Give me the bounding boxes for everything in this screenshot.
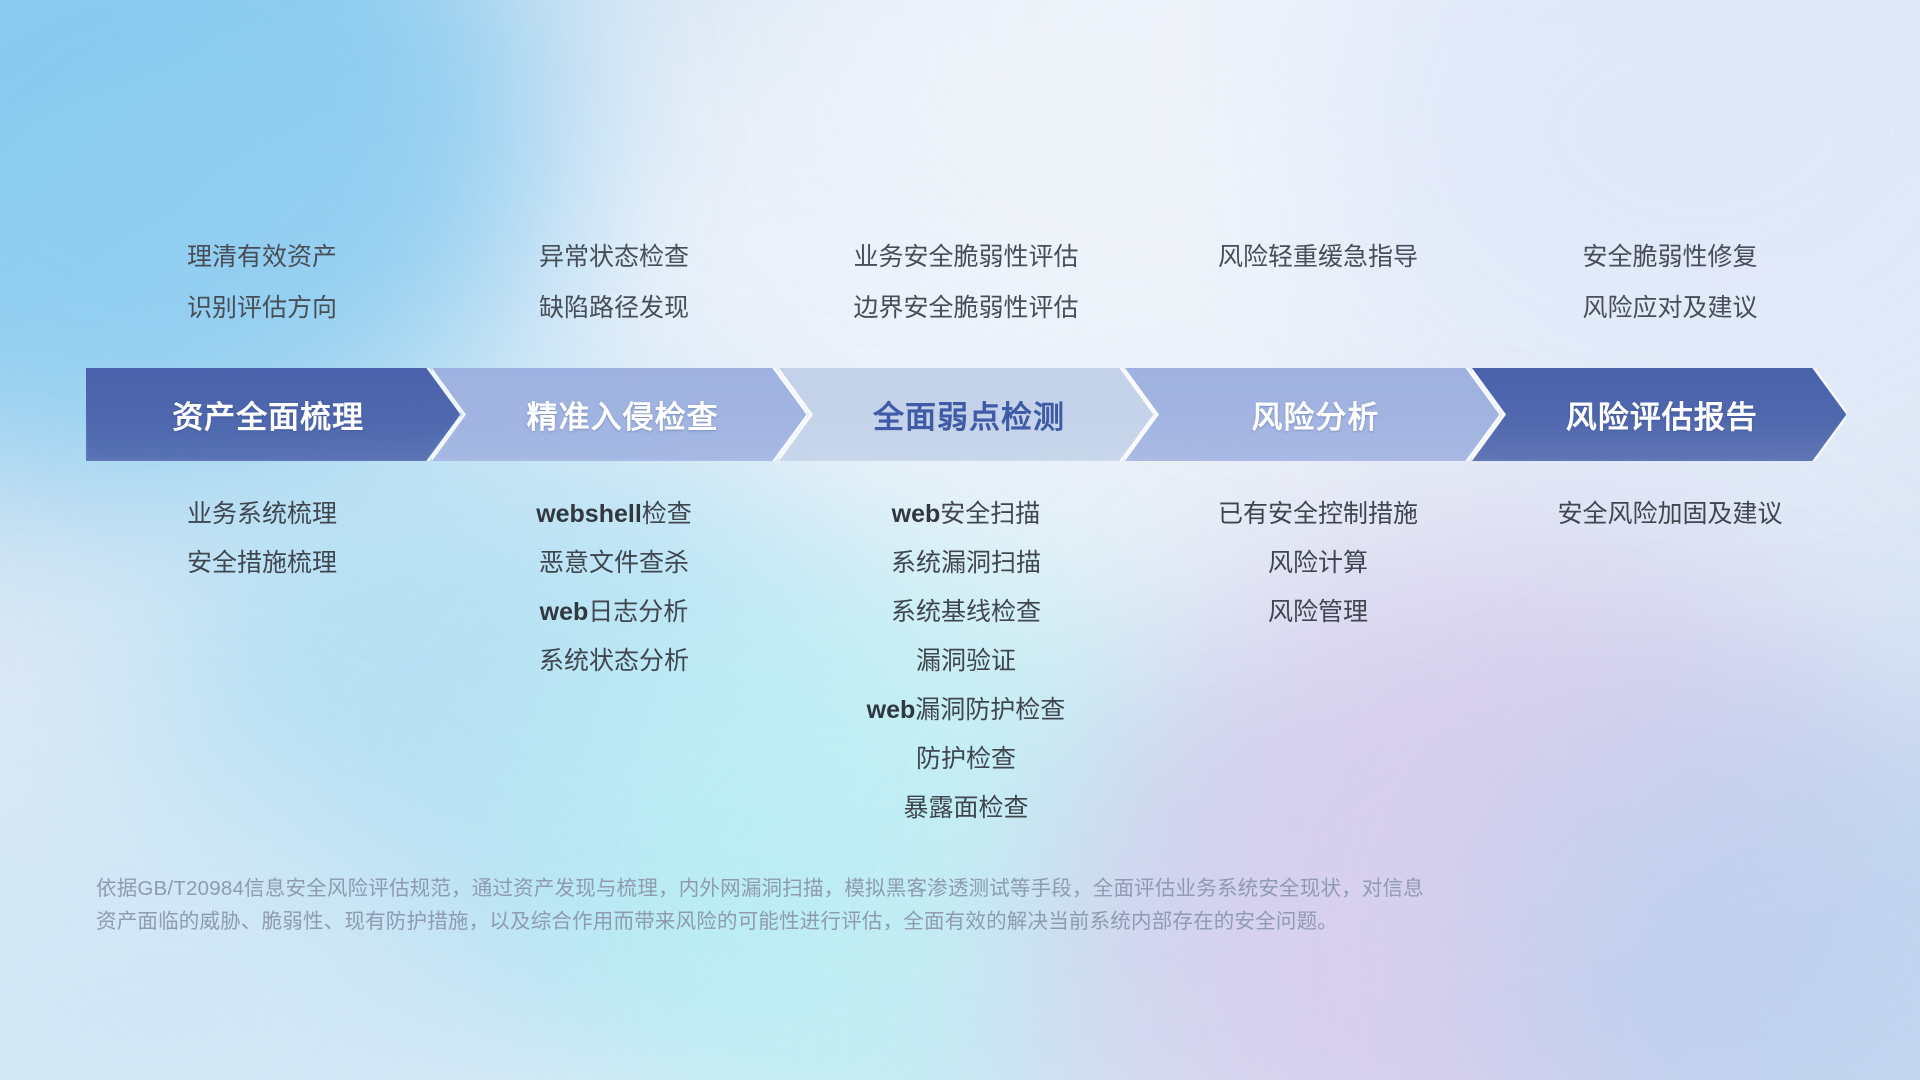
- top-caption-cell-5: 安全脆弱性修复风险应对及建议: [1494, 232, 1846, 334]
- process-diagram: 理清有效资产识别评估方向异常状态检查缺陷路径发现业务安全脆弱性评估边界安全脆弱性…: [0, 0, 1920, 1080]
- detail-list-item: webshell检查: [438, 490, 790, 539]
- detail-list-item: web日志分析: [438, 588, 790, 637]
- detail-list-item: 风险计算: [1142, 539, 1494, 588]
- top-caption-item: 安全脆弱性修复: [1494, 232, 1846, 283]
- detail-list-5: 安全风险加固及建议: [1494, 490, 1846, 539]
- top-caption-item: 异常状态检查: [438, 232, 790, 283]
- top-caption-cell-4: 风险轻重缓急指导: [1142, 232, 1494, 334]
- top-caption-row: 理清有效资产识别评估方向异常状态检查缺陷路径发现业务安全脆弱性评估边界安全脆弱性…: [86, 232, 1846, 334]
- detail-list-item: 安全风险加固及建议: [1494, 490, 1846, 539]
- top-caption-cell-3: 业务安全脆弱性评估边界安全脆弱性评估: [790, 232, 1142, 334]
- detail-list-item: 系统状态分析: [438, 637, 790, 686]
- process-step-label: 风险评估报告: [1566, 392, 1758, 437]
- detail-list-item: 业务系统梳理: [86, 490, 438, 539]
- detail-list-item: 暴露面检查: [790, 784, 1142, 833]
- top-caption-item: 风险轻重缓急指导: [1142, 232, 1494, 283]
- footer-line-1: 依据GB/T20984信息安全风险评估规范，通过资产发现与梳理，内外网漏洞扫描，…: [96, 872, 1626, 905]
- detail-list-item: 恶意文件查杀: [438, 539, 790, 588]
- process-step-5[interactable]: 风险评估报告: [1472, 368, 1846, 461]
- process-step-label: 全面弱点检测: [873, 392, 1065, 437]
- top-caption-item: 边界安全脆弱性评估: [790, 283, 1142, 334]
- top-caption-item: 业务安全脆弱性评估: [790, 232, 1142, 283]
- detail-list-item: 漏洞验证: [790, 637, 1142, 686]
- detail-list-item: web漏洞防护检查: [790, 686, 1142, 735]
- detail-list-item: 系统漏洞扫描: [790, 539, 1142, 588]
- process-step-label: 资产全面梳理: [172, 392, 364, 437]
- top-caption-item: 理清有效资产: [86, 232, 438, 283]
- top-caption-item: 缺陷路径发现: [438, 283, 790, 334]
- process-chevron-banner: 资产全面梳理精准入侵检查全面弱点检测风险分析风险评估报告: [86, 368, 1846, 461]
- detail-list-item: 安全措施梳理: [86, 539, 438, 588]
- top-caption-item: 识别评估方向: [86, 283, 438, 334]
- top-caption-cell-1: 理清有效资产识别评估方向: [86, 232, 438, 334]
- top-caption-cell-2: 异常状态检查缺陷路径发现: [438, 232, 790, 334]
- process-step-3[interactable]: 全面弱点检测: [779, 368, 1153, 461]
- detail-list-item: 风险管理: [1142, 588, 1494, 637]
- detail-list-2: webshell检查恶意文件查杀web日志分析系统状态分析: [438, 490, 790, 686]
- process-step-1[interactable]: 资产全面梳理: [86, 368, 460, 461]
- detail-list-item: 系统基线检查: [790, 588, 1142, 637]
- footer-description: 依据GB/T20984信息安全风险评估规范，通过资产发现与梳理，内外网漏洞扫描，…: [96, 872, 1626, 938]
- top-caption-item: 风险应对及建议: [1494, 283, 1846, 334]
- process-step-4[interactable]: 风险分析: [1125, 368, 1499, 461]
- detail-list-item: 已有安全控制措施: [1142, 490, 1494, 539]
- process-step-label: 风险分析: [1251, 392, 1379, 437]
- detail-list-item: web安全扫描: [790, 490, 1142, 539]
- bottom-detail-row: 业务系统梳理安全措施梳理webshell检查恶意文件查杀web日志分析系统状态分…: [86, 490, 1846, 833]
- footer-line-2: 资产面临的威胁、脆弱性、现有防护措施，以及综合作用而带来风险的可能性进行评估，全…: [96, 905, 1626, 938]
- detail-list-3: web安全扫描系统漏洞扫描系统基线检查漏洞验证web漏洞防护检查防护检查暴露面检…: [790, 490, 1142, 833]
- detail-list-item: 防护检查: [790, 735, 1142, 784]
- process-step-2[interactable]: 精准入侵检查: [432, 368, 806, 461]
- detail-list-1: 业务系统梳理安全措施梳理: [86, 490, 438, 588]
- detail-list-4: 已有安全控制措施风险计算风险管理: [1142, 490, 1494, 637]
- process-step-label: 精准入侵检查: [527, 392, 719, 437]
